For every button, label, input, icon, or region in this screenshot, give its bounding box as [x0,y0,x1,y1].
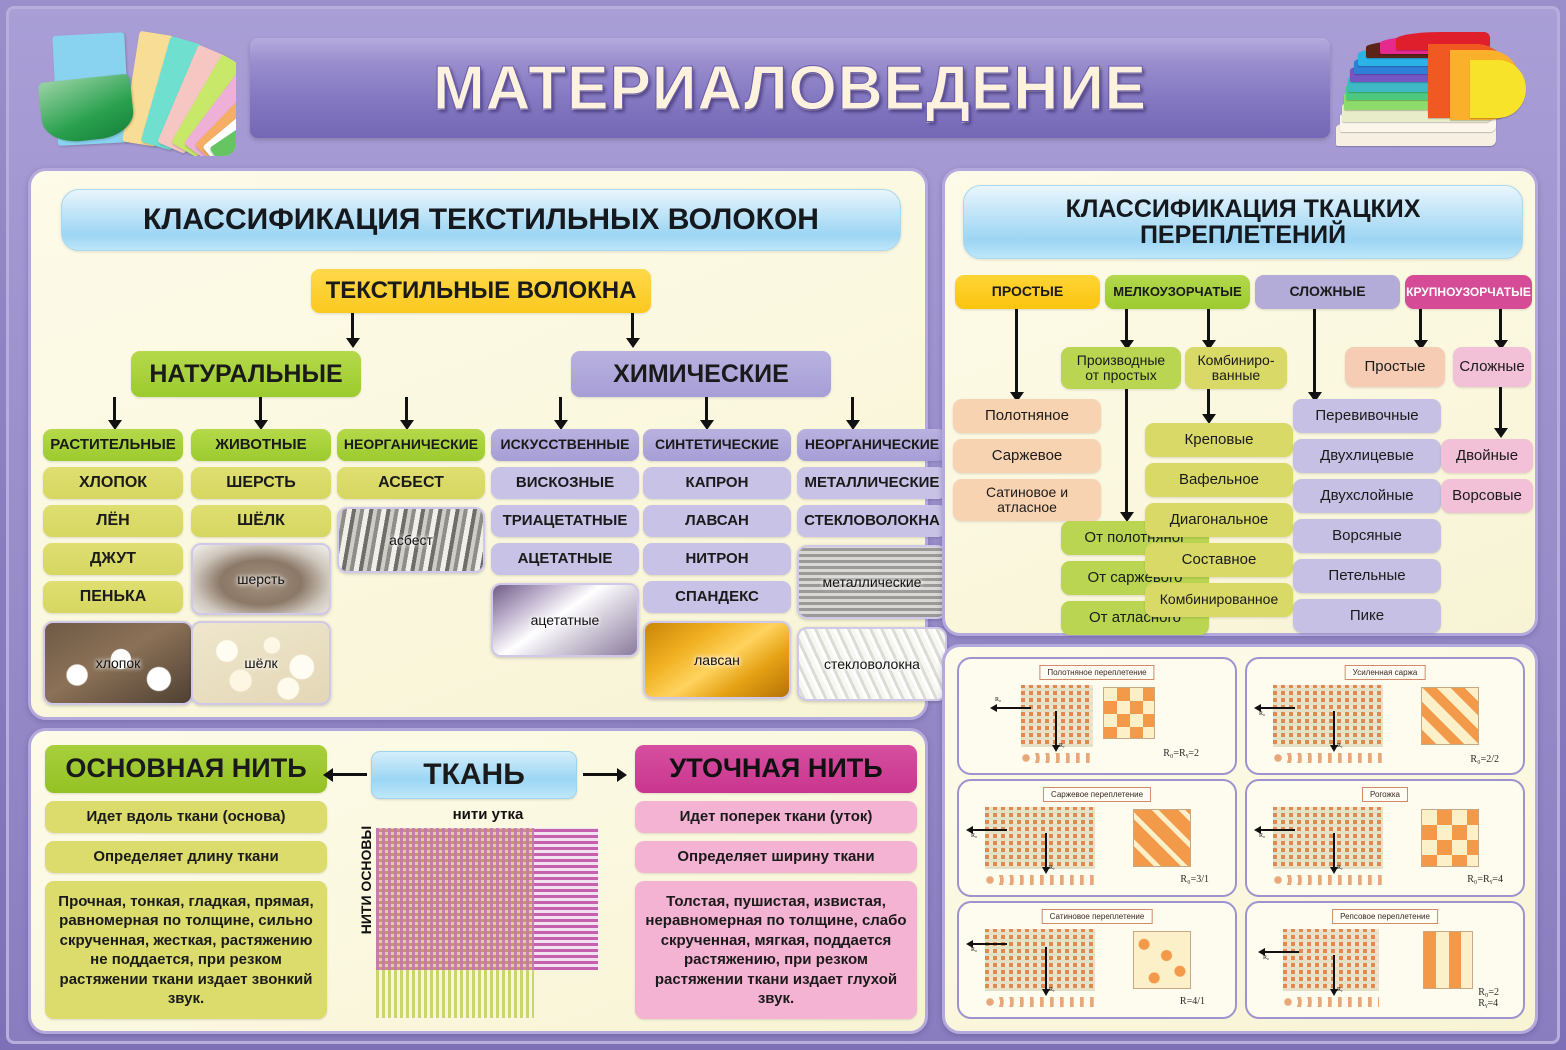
arrow-chemical-3 [851,397,854,421]
photo-fiberglass-caption: стекловолокна [824,656,920,672]
fiber-silk: ШЁЛК [191,505,331,537]
warp-threads-label: НИТИ ОСНОВЫ [358,820,374,940]
arrow-largepattern-simple [1419,309,1422,341]
fiber-fiberglass: СТЕКЛОВОЛОКНА [797,505,947,537]
fabric-weave-schematic [376,828,598,1018]
diagram-formula-reinforced-twill: R₀=2/2 [1470,754,1499,765]
fabric-node: ТКАНЬ [371,751,577,799]
diagram-label-o-basket: R₀ [1259,833,1265,839]
photo-acetate-caption: ацетатные [531,612,600,628]
arrow-smallpattern-derived [1125,309,1128,341]
color-sheets-image [1332,26,1532,156]
group-title-inorganic-natural: НЕОРГАНИЧЕСКИЕ [337,429,485,461]
fiber-viscose: ВИСКОЗНЫЕ [491,467,639,499]
diagram-grid-sateen [1133,931,1191,989]
diagram-title-reinforced-twill: Усиленная саржа [1345,665,1426,680]
poster-background: МАТЕРИАЛОВЕДЕНИЕ КЛАС [0,0,1566,1050]
fiber-cotton: ХЛОПОК [43,467,183,499]
poster-title-banner: МАТЕРИАЛОВЕДЕНИЕ [250,38,1330,138]
warp-line1: Идет вдоль ткани (основа) [45,801,327,833]
weft-title: УТОЧНАЯ НИТЬ [635,745,917,793]
arrow-combined-down [1207,389,1210,415]
weave-leno: Перевивочные [1293,399,1441,433]
diagram-beads-sateen [985,997,1095,1007]
diagram-title-sateen: Сатиновое переплетение [1042,909,1153,924]
diagram-formula-basket: R₀=Rᵧ=4 [1467,874,1503,885]
woven-area [376,828,534,970]
diagram-title-plain: Полотняное переплетение [1039,665,1154,680]
diagram-formula-sateen: R=4/1 [1180,996,1205,1007]
diagram-label-y-basket: Rᵧ [1337,865,1343,871]
diagram-grid-reinforced-twill [1421,687,1479,745]
arrow-natural-3 [405,397,408,421]
fiber-wool: ШЕРСТЬ [191,467,331,499]
arrow-derived-down [1125,389,1128,513]
diagram-weave-basket [1273,807,1383,869]
weave-loop: Петельные [1293,559,1441,593]
diagram-axis-y-reinforced-twill [1333,711,1335,745]
warp-description: Прочная, тонкая, гладкая, прямая, равном… [45,881,327,1019]
group-title-plant: РАСТИТЕЛЬНЫЕ [43,429,183,461]
weave-double-layer: Двухслойные [1293,479,1441,513]
weave-large-pattern: КРУПНОУЗОРЧАТЫЕ [1405,275,1532,309]
fiber-spandex: СПАНДЕКС [643,581,791,613]
diagram-label-y-sateen: Rᵧ [1049,987,1055,993]
weave-combined-item: Комбинированное [1145,583,1293,617]
fiber-metallic: МЕТАЛЛИЧЕСКИЕ [797,467,947,499]
diagram-beads-rep [1283,997,1379,1007]
diagram-title-twill: Саржевое переплетение [1043,787,1151,802]
diagram-formula-twill: R₀=3/1 [1180,874,1209,885]
diagram-label-y-reinforced-twill: Rᵧ [1337,743,1343,749]
weave-complex: СЛОЖНЫЕ [1255,275,1400,309]
diagram-title-rep: Репсовое переплетение [1332,909,1438,924]
photo-asbestos: асбест [337,507,485,573]
panel-fiber-classification: КЛАССИФИКАЦИЯ ТЕКСТИЛЬНЫХ ВОЛОКОН ТЕКСТИ… [28,168,928,720]
diagram-card-twill: Саржевое переплетение R₀ Rᵧ R₀=3/1 [957,779,1237,897]
diagram-formula-plain: R₀=Rᵧ=2 [1163,748,1199,759]
diagram-grid-plain [1103,687,1155,739]
diagram-axis-y-twill [1045,833,1047,867]
weft-description: Толстая, пушистая, извистая, неравномерн… [635,881,917,1019]
photo-wool-caption: шерсть [237,571,285,587]
weave-composite: Составное [1145,543,1293,577]
weave-waffle: Вафельное [1145,463,1293,497]
diagram-beads-reinforced-twill [1273,753,1383,763]
diagram-axis-y-sateen [1045,947,1047,989]
weave-double: Двойные [1441,439,1533,473]
fiber-triacetate: ТРИАЦЕТАТНЫЕ [491,505,639,537]
arrow-chemical-2 [705,397,708,421]
weave-large-complex: Сложные [1453,347,1531,387]
diagram-label-o-rep: R₀ [1263,955,1269,961]
arrow-natural-1 [113,397,116,421]
group-title-inorganic-chemical: НЕОРГАНИЧЕСКИЕ [797,429,947,461]
weave-satin-sateen: Сатиновое и атласное [953,479,1101,521]
diagram-axis-o-reinforced-twill [1261,707,1295,709]
arrow-root-to-chemical [631,313,634,339]
photo-silk: шёлк [191,621,331,705]
diagram-label-y-twill: Rᵧ [1049,865,1055,871]
diagram-formula-rep: R₀=2 Rᵧ=4 [1478,987,1499,1009]
weave-double-face: Двухлицевые [1293,439,1441,473]
weave-simple: ПРОСТЫЕ [955,275,1100,309]
weave-small-pattern: МЕЛКОУЗОРЧАТЫЕ [1105,275,1250,309]
diagram-label-o-sateen: R₀ [971,947,977,953]
diagram-label-y-rep: Rᵧ [1337,987,1343,993]
diagram-grid-twill [1133,809,1191,867]
weaves-heading: КЛАССИФИКАЦИЯ ТКАЦКИХ ПЕРЕПЛЕТЕНИЙ [963,185,1523,259]
photo-wool: шерсть [191,543,331,615]
diagram-weave-plain [1021,685,1093,747]
fiber-kapron: КАПРОН [643,467,791,499]
weft-line1: Идет поперек ткани (уток) [635,801,917,833]
diagram-axis-o-rep [1265,951,1299,953]
photo-fiberglass: стекловолокна [797,627,947,701]
photo-metallic-caption: металлические [823,574,922,590]
weft-line2: Определяет ширину ткани [635,841,917,873]
weave-crepe: Креповые [1145,423,1293,457]
arrow-simple-down [1015,309,1018,393]
arrow-fabric-to-warp [333,773,367,776]
photo-asbestos-caption: асбест [389,532,433,548]
fiber-jute: ДЖУТ [43,543,183,575]
arrow-fabric-to-weft [583,773,617,776]
diagram-axis-y-rep [1333,955,1335,989]
fabric-rolls-image [36,26,236,156]
diagram-beads-twill [985,875,1095,885]
warp-line2: Определяет длину ткани [45,841,327,873]
diagram-card-plain: Полотняное переплетение R₀ Rᵧ R₀=Rᵧ=2 [957,657,1237,775]
warp-title: ОСНОВНАЯ НИТЬ [45,745,327,793]
diagram-card-sateen: Сатиновое переплетение R₀ Rᵧ R=4/1 [957,901,1237,1019]
photo-lavsan: лавсан [643,621,791,699]
diagram-label-o-plain: R₀ [995,697,1001,703]
weave-combined: Комбиниро- ванные [1185,347,1287,389]
group-title-artificial: ИСКУССТВЕННЫЕ [491,429,639,461]
arrow-largepattern-complex [1499,309,1502,341]
diagram-grid-basket [1421,809,1479,867]
diagram-weave-sateen [985,929,1095,991]
warp-only-area [376,970,534,1018]
photo-cotton-caption: хлопок [96,655,141,671]
diagram-title-basket: Рогожка [1362,787,1408,802]
diagram-label-o-twill: R₀ [971,833,977,839]
fiber-lavsan: ЛАВСАН [643,505,791,537]
weave-plain: Полотняное [953,399,1101,433]
panel-weave-classification: КЛАССИФИКАЦИЯ ТКАЦКИХ ПЕРЕПЛЕТЕНИЙ ПРОСТ… [942,168,1538,636]
node-natural: НАТУРАЛЬНЫЕ [131,351,361,397]
group-title-synthetic: СИНТЕТИЧЕСКИЕ [643,429,791,461]
photo-silk-caption: шёлк [244,655,277,671]
node-chemical: ХИМИЧЕСКИЕ [571,351,831,397]
diagram-beads-basket [1273,875,1383,885]
fibers-heading: КЛАССИФИКАЦИЯ ТЕКСТИЛЬНЫХ ВОЛОКОН [61,189,901,251]
arrow-complex-down [1313,309,1316,393]
photo-acetate: ацетатные [491,583,639,657]
page-title: МАТЕРИАЛОВЕДЕНИЕ [433,53,1147,124]
weave-diagonal: Диагональное [1145,503,1293,537]
diagram-beads-plain [1021,753,1093,763]
weave-large-simple: Простые [1345,347,1445,387]
arrow-root-to-natural [351,313,354,339]
fiber-nitron: НИТРОН [643,543,791,575]
diagram-axis-o-plain [997,707,1031,709]
arrow-chemical-1 [559,397,562,421]
diagram-axis-o-basket [1261,829,1295,831]
diagram-grid-rep [1423,931,1473,989]
diagram-card-reinforced-twill: Усиленная саржа R₀ Rᵧ R₀=2/2 [1245,657,1525,775]
diagram-axis-o-twill [973,829,1007,831]
diagram-weave-twill [985,807,1095,869]
group-title-animal: ЖИВОТНЫЕ [191,429,331,461]
diagram-axis-y-basket [1333,833,1335,867]
arrow-smallpattern-combined [1207,309,1210,341]
panel-weave-diagrams: Полотняное переплетение R₀ Rᵧ R₀=Rᵧ=2 Ус… [942,644,1538,1034]
diagram-weave-reinforced-twill [1273,685,1383,747]
diagram-axis-o-sateen [973,943,1007,945]
fiber-flax: ЛЁН [43,505,183,537]
fiber-acetate: АЦЕТАТНЫЕ [491,543,639,575]
photo-cotton: хлопок [43,621,193,705]
poster-header: МАТЕРИАЛОВЕДЕНИЕ [18,14,1548,154]
weave-twill: Саржевое [953,439,1101,473]
diagram-card-rep: Репсовое переплетение R₀ Rᵧ R₀=2 Rᵧ=4 [1245,901,1525,1019]
weave-derived-from-simple: Производные от простых [1061,347,1181,389]
fiber-hemp: ПЕНЬКА [43,581,183,613]
arrow-natural-2 [259,397,262,421]
weave-napped: Ворсовые [1441,479,1533,513]
weft-threads-label: нити утка [398,806,578,823]
arrow-largecomplex-down [1499,387,1502,429]
photo-metallic: металлические [797,545,947,619]
node-textile-fibers: ТЕКСТИЛЬНЫЕ ВОЛОКНА [311,269,651,313]
photo-lavsan-caption: лавсан [694,652,740,668]
weave-pile: Ворсяные [1293,519,1441,553]
diagram-label-o-reinforced-twill: R₀ [1259,711,1265,717]
weft-only-area [534,828,598,970]
diagram-axis-y-plain [1055,711,1057,745]
fiber-asbestos: АСБЕСТ [337,467,485,499]
diagram-card-basket: Рогожка R₀ Rᵧ R₀=Rᵧ=4 [1245,779,1525,897]
weave-pique: Пике [1293,599,1441,633]
diagram-weave-rep [1283,929,1379,991]
diagram-label-y-plain: Rᵧ [1059,743,1065,749]
